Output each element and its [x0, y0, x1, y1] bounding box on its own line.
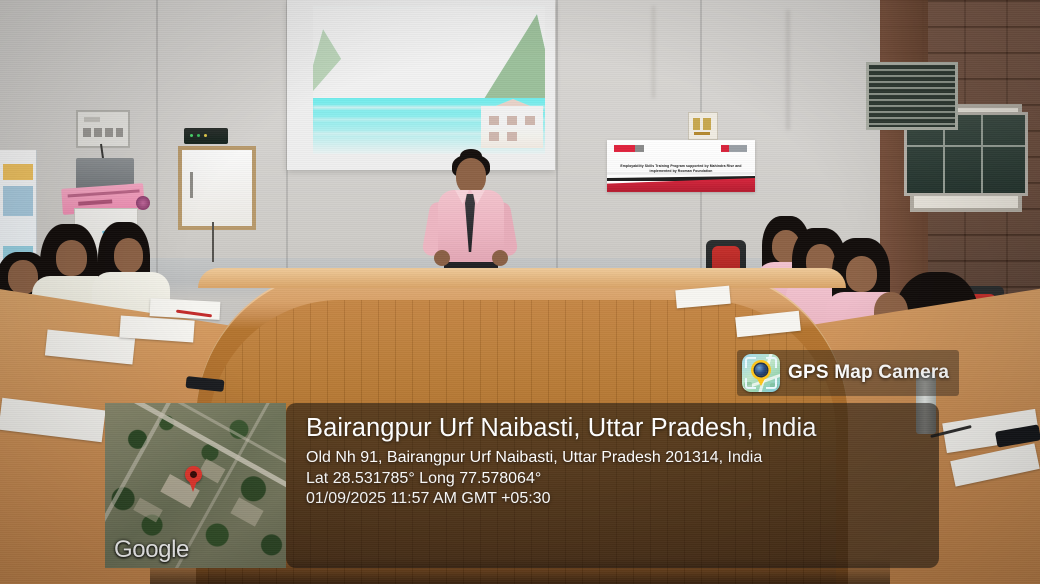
location-stamp-panel: Bairangpur Urf Naibasti, Uttar Pradesh, …	[286, 403, 939, 568]
banner-text: Employability Skills Training Program su…	[617, 164, 745, 174]
wall-seam	[556, 0, 558, 300]
banner-logo-right-icon	[721, 145, 747, 152]
google-watermark: Google	[114, 536, 189, 564]
gps-map-camera-photo: Employability Skills Training Program su…	[0, 0, 1040, 584]
wall-cabinet	[178, 146, 256, 230]
cabinet-wire	[212, 222, 214, 262]
map-thumbnail: Google	[105, 403, 286, 568]
gps-map-camera-logo-icon	[742, 354, 780, 392]
table-edge-highlight	[198, 268, 846, 288]
rosette-decoration	[136, 196, 150, 210]
stamp-datetime: 01/09/2025 11:57 AM GMT +05:30	[306, 489, 925, 510]
stamp-place-title: Bairangpur Urf Naibasti, Uttar Pradesh, …	[306, 413, 925, 444]
stamp-address: Old Nh 91, Bairangpur Urf Naibasti, Utta…	[306, 448, 925, 469]
projected-slide-image	[313, 6, 545, 154]
banner-logo-left-icon	[614, 145, 644, 152]
stamp-coordinates: Lat 28.531785° Long 77.578064°	[306, 469, 925, 490]
wifi-router	[184, 128, 228, 144]
slide-hill-right	[477, 14, 545, 110]
map-pin-icon	[185, 466, 202, 483]
wall-stain	[786, 10, 790, 130]
slide-cabin	[481, 106, 543, 148]
wall-poster-small	[688, 112, 718, 140]
training-program-banner: Employability Skills Training Program su…	[607, 140, 755, 192]
gps-map-camera-watermark: GPS Map Camera	[737, 350, 959, 396]
gps-map-camera-label: GPS Map Camera	[788, 362, 949, 384]
electrical-switch-box	[76, 110, 130, 148]
wall-grille	[866, 62, 958, 130]
wall-stain	[652, 6, 655, 98]
presenter-head	[456, 158, 486, 194]
